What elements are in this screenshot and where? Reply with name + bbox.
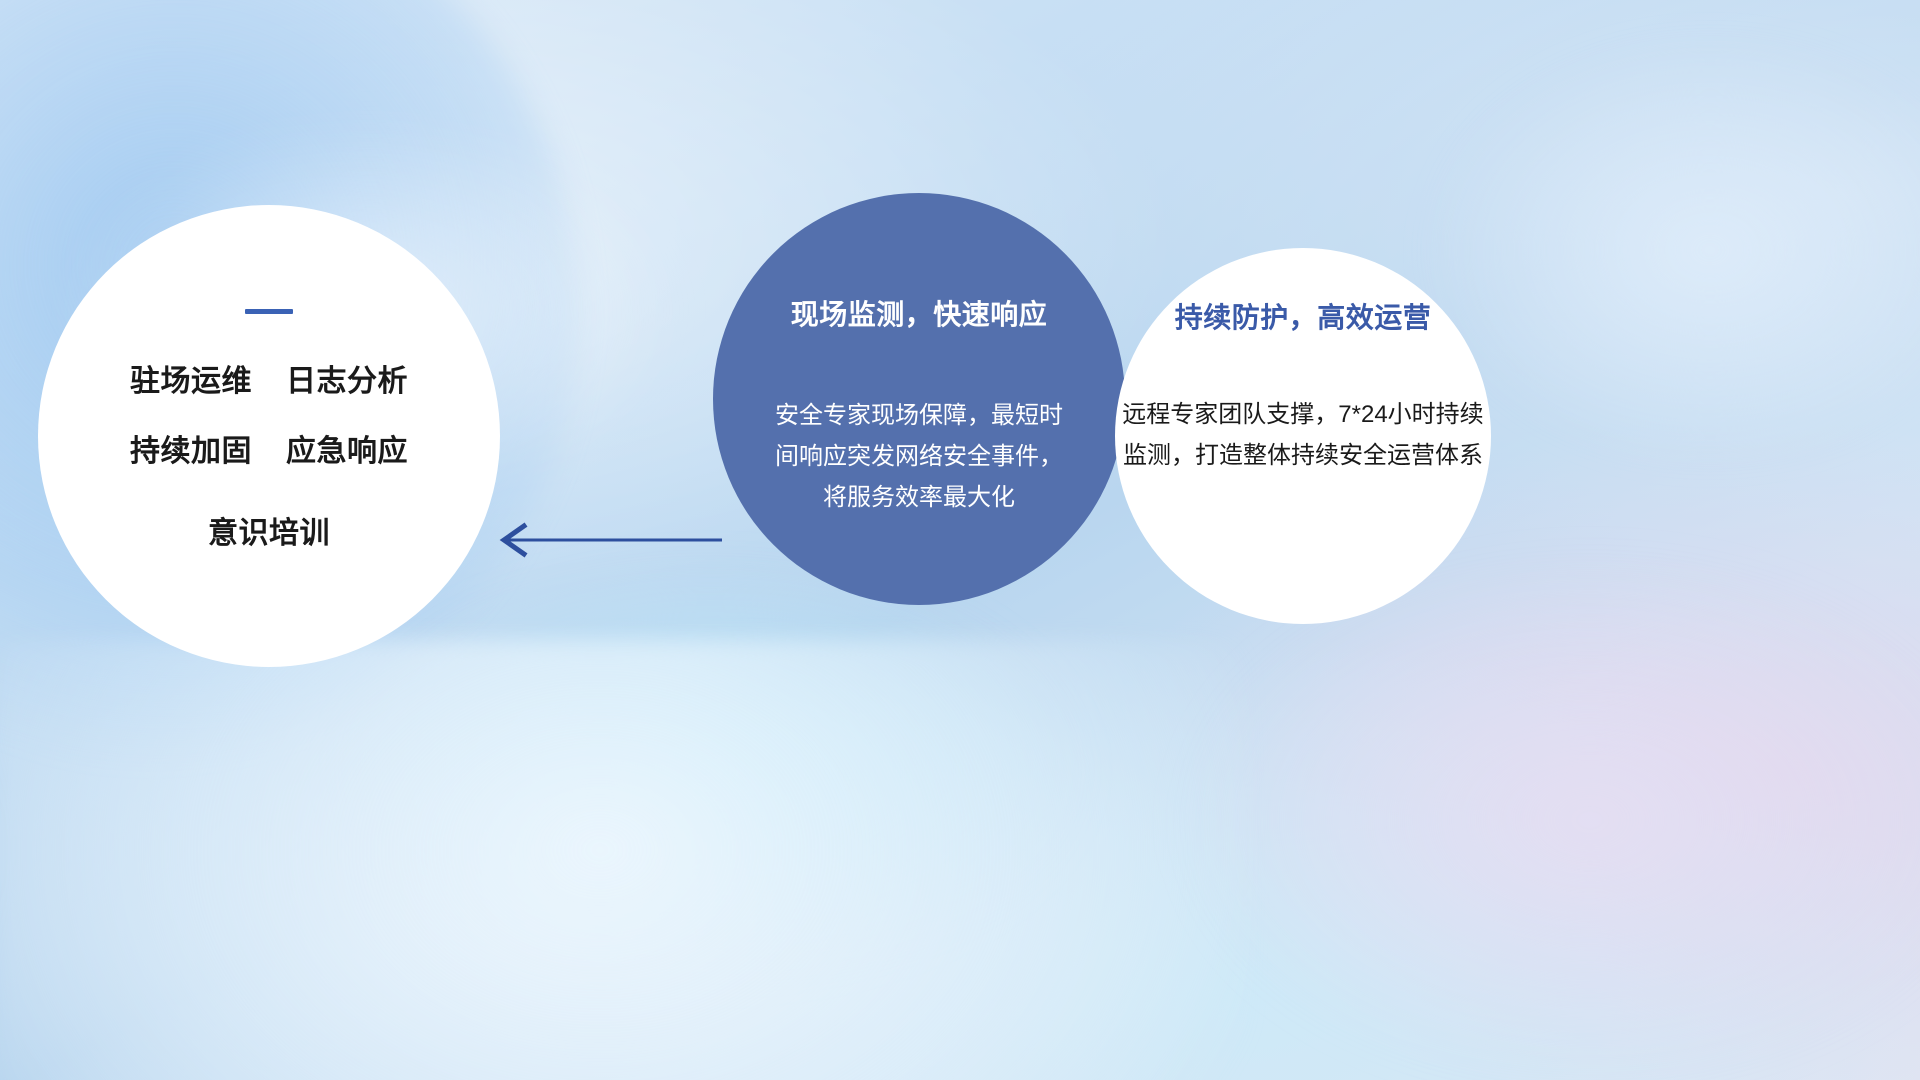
capability-item: 驻场运维 bbox=[130, 356, 252, 400]
continuous-protection-body: 远程专家团队支撑，7*24小时持续监测，打造整体持续安全运营体系 bbox=[1117, 394, 1489, 476]
capability-item: 应急响应 bbox=[286, 426, 408, 470]
capabilities-circle[interactable]: 驻场运维 日志分析 持续加固 应急响应 意识培训 bbox=[38, 205, 500, 667]
continuous-protection-title: 持续防护，高效运营 bbox=[1175, 296, 1432, 336]
capability-item: 意识培训 bbox=[208, 508, 330, 552]
continuous-protection-content: 持续防护，高效运营 远程专家团队支撑，7*24小时持续监测，打造整体持续安全运营… bbox=[1103, 248, 1503, 624]
connector-arrow-icon bbox=[484, 520, 724, 560]
background-glow-top-right bbox=[1430, 40, 1920, 460]
capability-row: 持续加固 应急响应 bbox=[130, 426, 408, 470]
title-divider-rule bbox=[245, 309, 293, 314]
capability-item: 持续加固 bbox=[130, 426, 252, 470]
slide-canvas: 驻场运维 日志分析 持续加固 应急响应 意识培训 现场监测，快速响应 安全专家现… bbox=[0, 0, 1920, 1080]
onsite-monitoring-title: 现场监测，快速响应 bbox=[791, 293, 1048, 333]
onsite-monitoring-circle[interactable]: 现场监测，快速响应 安全专家现场保障，最短时间响应突发网络安全事件，将服务效率最… bbox=[713, 193, 1125, 605]
capability-row: 意识培训 bbox=[208, 508, 330, 552]
continuous-protection-circle[interactable]: 持续防护，高效运营 远程专家团队支撑，7*24小时持续监测，打造整体持续安全运营… bbox=[1115, 248, 1491, 624]
capability-row: 驻场运维 日志分析 bbox=[130, 356, 408, 400]
onsite-monitoring-body: 安全专家现场保障，最短时间响应突发网络安全事件，将服务效率最大化 bbox=[769, 395, 1069, 518]
capability-item: 日志分析 bbox=[286, 356, 408, 400]
onsite-monitoring-content: 现场监测，快速响应 安全专家现场保障，最短时间响应突发网络安全事件，将服务效率最… bbox=[713, 193, 1125, 605]
background-glow-bottom-right bbox=[1180, 560, 1920, 1080]
capabilities-content: 驻场运维 日志分析 持续加固 应急响应 意识培训 bbox=[38, 205, 500, 667]
